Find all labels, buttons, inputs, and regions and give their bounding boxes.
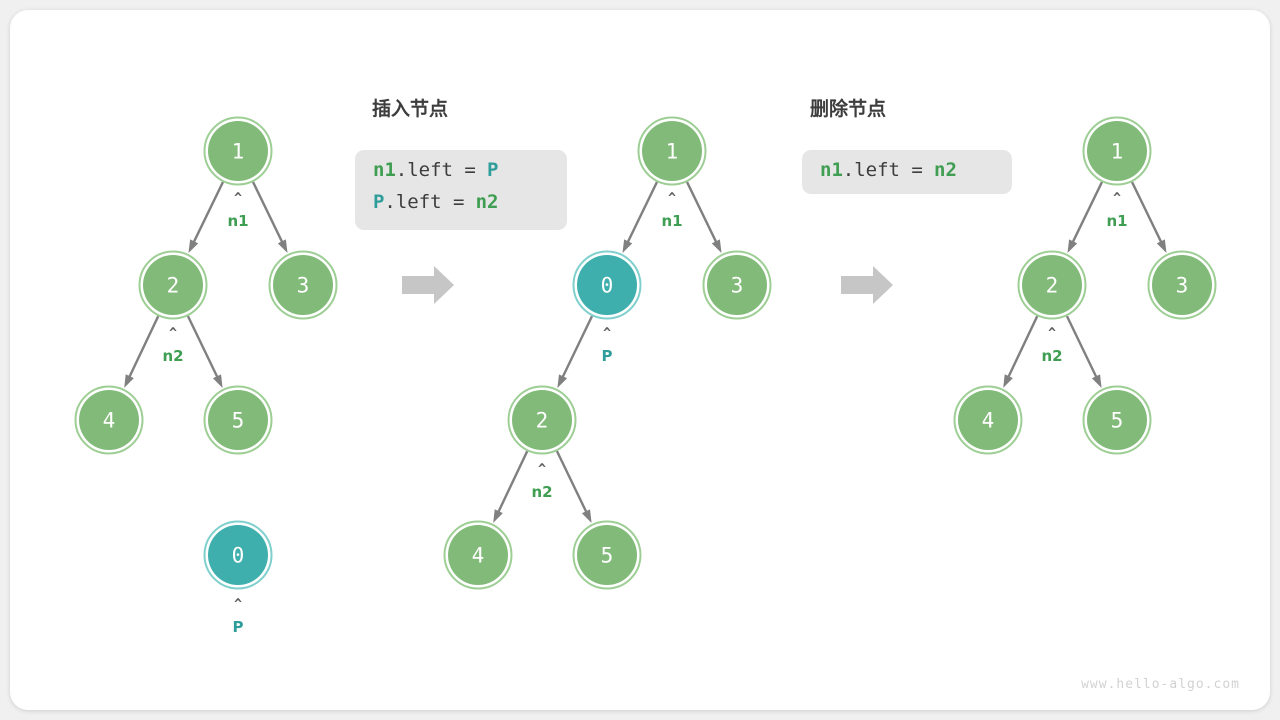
pointer-caret-icon: ^ — [169, 326, 177, 341]
tree-node: 0 — [205, 522, 272, 589]
transition-arrows-layer — [402, 266, 893, 304]
diagram-card: n1.left = PP.left = n2n1.left = n2 插入节点删… — [10, 10, 1270, 710]
edge-arrowhead — [1003, 374, 1013, 388]
code-token: n1 — [373, 159, 396, 181]
pointer-annotation: ^n2 — [531, 462, 552, 501]
edge-arrowhead — [1092, 374, 1102, 388]
node-value: 2 — [1046, 274, 1059, 298]
node-value: 4 — [472, 544, 485, 568]
code-box: n1.left = n2 — [802, 150, 1012, 194]
tree-edge — [557, 451, 587, 514]
tree-edge — [1007, 316, 1037, 379]
panel-title: 插入节点 — [372, 98, 448, 120]
tree-edge — [1067, 316, 1097, 379]
tree-edge — [1072, 182, 1102, 244]
pointer-label: n1 — [227, 212, 248, 230]
pointer-annotation: ^P — [233, 597, 244, 636]
pointer-annotation: ^n2 — [162, 326, 183, 365]
node-value: 0 — [601, 274, 614, 298]
edge-arrowhead — [213, 374, 223, 388]
tree-node: 2 — [140, 252, 207, 319]
tree-edge — [128, 316, 158, 379]
node-value: 1 — [666, 140, 679, 164]
tree-node: 3 — [1149, 252, 1216, 319]
edge-arrowhead — [582, 509, 592, 523]
code-token: .left = — [396, 159, 476, 181]
code-box: n1.left = PP.left = n2 — [355, 150, 567, 230]
tree-node: 5 — [205, 387, 272, 454]
tree-node: 4 — [445, 522, 512, 589]
code-token: n2 — [934, 159, 957, 181]
node-value: 4 — [103, 409, 116, 433]
tree-node: 0 — [574, 252, 641, 319]
edge-arrowhead — [622, 239, 632, 253]
tree-node: 1 — [639, 118, 706, 185]
tree-edge — [562, 316, 592, 379]
tree-node: 1 — [1084, 118, 1151, 185]
tree-node: 2 — [509, 387, 576, 454]
pointer-annotation: ^n2 — [1041, 326, 1062, 365]
edge-arrowhead — [278, 239, 288, 253]
titles-layer: 插入节点删除节点 — [372, 97, 886, 120]
code-token: n2 — [476, 191, 499, 213]
pointer-annotation: ^n1 — [1106, 191, 1127, 230]
pointer-label: n2 — [1041, 347, 1062, 365]
node-value: 1 — [1111, 140, 1124, 164]
pointer-label: P — [602, 347, 613, 365]
transition-arrow-icon — [402, 266, 454, 304]
tree-node: 5 — [574, 522, 641, 589]
tree-node: 4 — [76, 387, 143, 454]
tree-node: 1 — [205, 118, 272, 185]
tree-edge — [188, 316, 218, 379]
node-value: 2 — [167, 274, 180, 298]
edge-arrowhead — [1157, 239, 1167, 253]
code-token: n1 — [820, 159, 843, 181]
panel-title: 删除节点 — [810, 97, 886, 120]
pointer-caret-icon: ^ — [538, 462, 546, 477]
pointer-annotation: ^n1 — [661, 191, 682, 230]
tree-diagram-svg: n1.left = PP.left = n2n1.left = n2 插入节点删… — [10, 10, 1270, 710]
transition-arrow-icon — [841, 266, 893, 304]
tree-edge — [687, 182, 717, 244]
pointer-label: n2 — [162, 347, 183, 365]
edge-arrowhead — [557, 374, 567, 388]
tree-node: 2 — [1019, 252, 1086, 319]
node-value: 5 — [232, 409, 245, 433]
code-token: .left = — [384, 191, 464, 213]
node-value: 5 — [1111, 409, 1124, 433]
pointer-caret-icon: ^ — [1113, 191, 1121, 206]
pointer-caret-icon: ^ — [234, 191, 242, 206]
node-value: 5 — [601, 544, 614, 568]
edge-arrowhead — [124, 374, 134, 388]
pointer-caret-icon: ^ — [603, 326, 611, 341]
pointer-caret-icon: ^ — [1048, 326, 1056, 341]
tree-node: 3 — [704, 252, 771, 319]
pointer-caret-icon: ^ — [234, 597, 242, 612]
node-value: 3 — [731, 274, 744, 298]
pointer-label: P — [233, 618, 244, 636]
node-value: 3 — [297, 274, 310, 298]
edge-arrowhead — [712, 239, 722, 253]
pointer-label: n2 — [531, 483, 552, 501]
tree-node: 5 — [1084, 387, 1151, 454]
node-value: 2 — [536, 409, 549, 433]
tree-edge — [253, 182, 283, 244]
tree-node: 4 — [955, 387, 1022, 454]
watermark: www.hello-algo.com — [1081, 677, 1240, 692]
pointer-annotation: ^P — [602, 326, 613, 365]
code-token: P — [487, 159, 498, 181]
code-token: P — [373, 191, 384, 213]
pointer-label: n1 — [661, 212, 682, 230]
code-token: .left = — [843, 159, 923, 181]
pointer-annotation: ^n1 — [227, 191, 248, 230]
edge-arrowhead — [493, 509, 503, 523]
tree-edge — [497, 451, 527, 514]
edge-arrowhead — [188, 239, 198, 253]
pointer-label: n1 — [1106, 212, 1127, 230]
node-value: 1 — [232, 140, 245, 164]
pointer-caret-icon: ^ — [668, 191, 676, 206]
edges-layer — [124, 182, 1166, 523]
tree-node: 3 — [270, 252, 337, 319]
tree-edge — [1132, 182, 1162, 244]
node-value: 0 — [232, 544, 245, 568]
node-value: 3 — [1176, 274, 1189, 298]
edge-arrowhead — [1067, 239, 1077, 253]
tree-edge — [193, 182, 223, 244]
tree-edge — [627, 182, 657, 244]
node-value: 4 — [982, 409, 995, 433]
